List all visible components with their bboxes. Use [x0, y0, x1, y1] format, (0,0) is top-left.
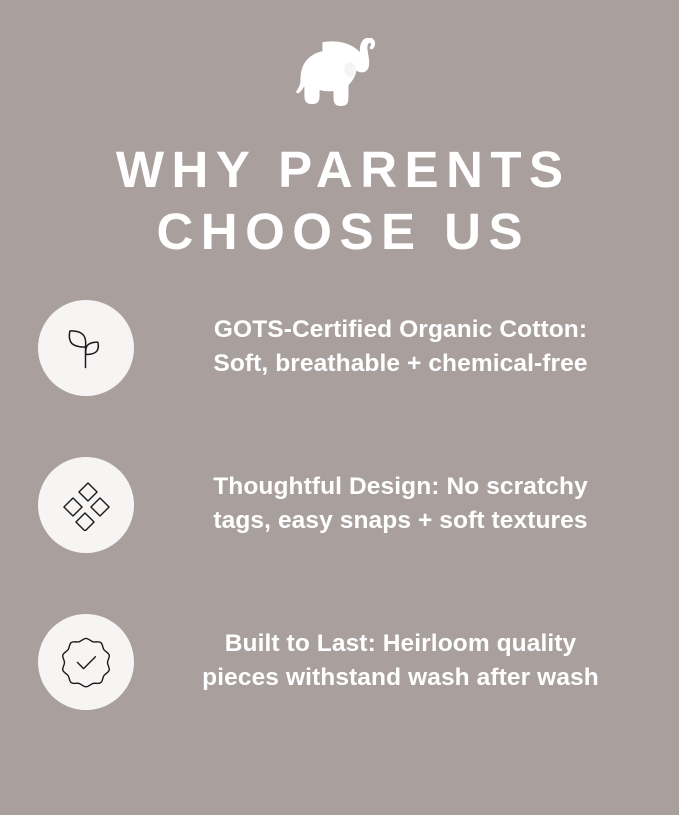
why-parents-choose-us-panel: WHY PARENTS CHOOSE US GOTS-Certified Org… [0, 0, 679, 815]
page-title-line-1: WHY PARENTS [0, 139, 679, 201]
page-title: WHY PARENTS CHOOSE US [0, 139, 679, 263]
badge-check-icon [57, 633, 115, 691]
feature-text-line-2: pieces withstand wash after wash [156, 661, 645, 695]
feature-icon-badge [38, 614, 134, 710]
feature-text-line-2: Soft, breathable + chemical-free [156, 347, 645, 381]
feature-list: GOTS-Certified Organic Cotton: Soft, bre… [0, 300, 679, 771]
elephant-icon [294, 38, 386, 108]
feature-text-line-1: Thoughtful Design: No scratchy [156, 470, 645, 504]
feature-text-line-2: tags, easy snaps + soft textures [156, 504, 645, 538]
feature-text-line-1: GOTS-Certified Organic Cotton: [156, 313, 645, 347]
feature-icon-badge [38, 300, 134, 396]
page-title-line-2: CHOOSE US [0, 201, 679, 263]
feature-text: Built to Last: Heirloom quality pieces w… [134, 614, 679, 695]
feature-row: Thoughtful Design: No scratchy tags, eas… [0, 457, 679, 614]
four-diamonds-icon [60, 479, 112, 531]
feature-text: GOTS-Certified Organic Cotton: Soft, bre… [134, 300, 679, 381]
feature-icon-badge [38, 457, 134, 553]
feature-row: Built to Last: Heirloom quality pieces w… [0, 614, 679, 771]
feature-row: GOTS-Certified Organic Cotton: Soft, bre… [0, 300, 679, 457]
feature-text: Thoughtful Design: No scratchy tags, eas… [134, 457, 679, 538]
brand-logo [0, 38, 679, 108]
feature-text-line-1: Built to Last: Heirloom quality [156, 627, 645, 661]
sprout-icon [59, 321, 113, 375]
